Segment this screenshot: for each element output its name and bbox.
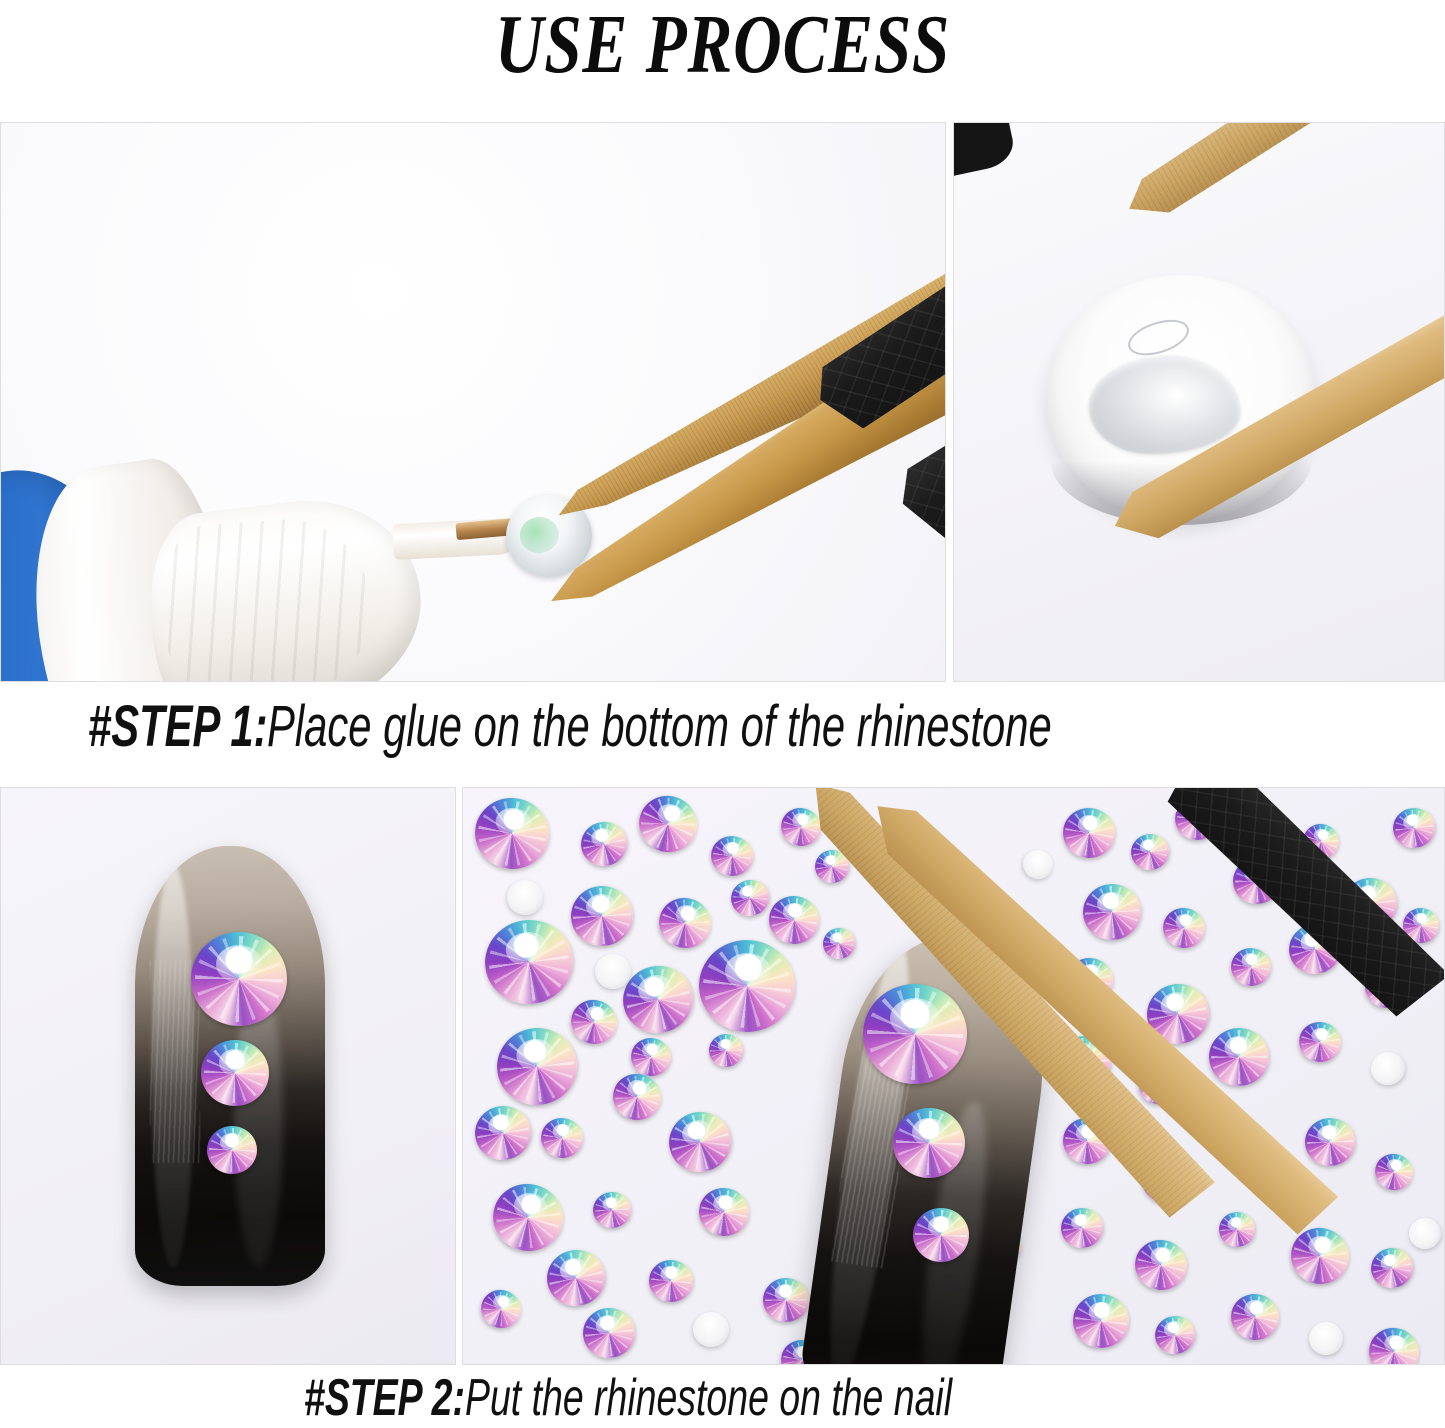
- rhinestone-small: [207, 1126, 257, 1174]
- rhinestone-scattered: [1058, 1205, 1106, 1251]
- rhinestone-medium: [201, 1040, 269, 1106]
- rhinestone-scattered: [628, 1035, 674, 1079]
- rhinestone-scattered: [492, 1023, 582, 1110]
- rhinestone-scattered: [470, 793, 553, 874]
- rhinestone-scattered: [568, 883, 636, 949]
- rhinestone-scattered: [777, 804, 825, 850]
- rhinestone-scattered: [767, 894, 822, 947]
- rhinestone-flat-side: [1019, 846, 1057, 884]
- rhinestone-scattered: [631, 787, 706, 861]
- rhinestone-scattered: [1367, 1243, 1418, 1293]
- rhinestone-scattered: [726, 875, 774, 922]
- rhinestone-scattered: [565, 993, 623, 1050]
- rhinestone-scattered: [709, 834, 754, 878]
- rhinestone-scattered: [1217, 1210, 1256, 1249]
- rhinestone-flat-side: [504, 877, 546, 919]
- rhinestone-scattered: [1080, 881, 1144, 943]
- rhinestone-flat-side: [1368, 1049, 1408, 1088]
- glue-bubble: [1124, 313, 1194, 362]
- rhinestone-scattered: [648, 1259, 694, 1303]
- rhinestone-scattered: [608, 1068, 667, 1125]
- rhinestone-scattered: [1229, 946, 1272, 987]
- tweezer-texture: [1102, 122, 1445, 240]
- step-2-caption: #STEP 2: Put the rhinestone on the nail: [0, 1368, 1445, 1428]
- step-2-text: Put the rhinestone on the nail: [465, 1368, 952, 1428]
- rhinestone-large: [191, 932, 287, 1026]
- rhinestone-scattered: [1071, 1292, 1131, 1350]
- rhinestone-scattered: [1127, 830, 1172, 874]
- applying-rhinestone-photo: [462, 787, 1445, 1365]
- rhinestone-scattered: [476, 1285, 526, 1334]
- photo-surface: [463, 788, 1444, 1364]
- rhinestone-scattered: [762, 1277, 810, 1323]
- rhinestone-scattered: [1208, 1026, 1271, 1087]
- rhinestone-scattered: [591, 1190, 633, 1230]
- rhinestone-scattered: [708, 1033, 744, 1068]
- use-process-infographic: USE PROCESS: [0, 0, 1445, 1412]
- photo-surface: [954, 123, 1444, 681]
- step-1-text: Place glue on the bottom of the rhinesto…: [267, 693, 1052, 760]
- rhinestone-scattered: [1303, 1116, 1357, 1168]
- rhinestone-scattered: [1295, 1018, 1345, 1066]
- glue-applicator-photo: [0, 122, 946, 682]
- rhinestone-scattered: [1131, 1235, 1192, 1294]
- glued-rhinestone-photo: [953, 122, 1445, 682]
- photo-surface: [1, 123, 945, 681]
- rhinestone-flat-side: [690, 1309, 732, 1350]
- rhinestone-scattered: [696, 1184, 753, 1239]
- rhinestone-on-nail-medium: [893, 1108, 965, 1178]
- rhinestone-scattered: [661, 1104, 739, 1180]
- rhinestone-scattered: [1159, 904, 1208, 952]
- rhinestone-scattered: [1370, 1149, 1417, 1195]
- photo-surface: [1, 788, 455, 1364]
- tweezer-arm-upper: [1102, 122, 1445, 240]
- rhinestone-scattered: [1228, 1291, 1283, 1344]
- rhinestone-scattered: [486, 1177, 570, 1259]
- rhinestone-scattered: [539, 1116, 585, 1160]
- rhinestone-scattered: [1152, 1313, 1199, 1358]
- rhinestone-scattered: [819, 924, 859, 963]
- rhinestone-flat-side: [1308, 1321, 1343, 1355]
- step-2-label: #STEP 2:: [304, 1368, 465, 1428]
- rhinestone-on-nail-large: [863, 984, 967, 1084]
- rhinestone-scattered: [470, 1101, 536, 1165]
- glue-blob: [1089, 356, 1240, 454]
- finished-nail-photo: [0, 787, 456, 1365]
- page-title: USE PROCESS: [145, 0, 1301, 93]
- rhinestone-scattered: [579, 1304, 638, 1362]
- rhinestone-scattered: [653, 891, 718, 955]
- tweezer-grip-corner: [953, 122, 1017, 178]
- rhinestone-on-nail-small: [913, 1208, 969, 1262]
- step-1-caption: #STEP 1: Place glue on the bottom of the…: [0, 693, 1445, 760]
- rhinestone-scattered: [541, 1243, 612, 1312]
- rhinestone-flat-side: [1406, 1215, 1444, 1252]
- rhinestone-scattered: [696, 937, 798, 1035]
- rhinestone-scattered: [1390, 805, 1438, 851]
- rhinestone-scattered: [1060, 805, 1118, 861]
- rhinestone-scattered: [1363, 1322, 1424, 1365]
- rhinestone-scattered: [478, 913, 579, 1011]
- rhinestone-scattered: [576, 817, 631, 871]
- step-1-label: #STEP 1:: [88, 693, 267, 760]
